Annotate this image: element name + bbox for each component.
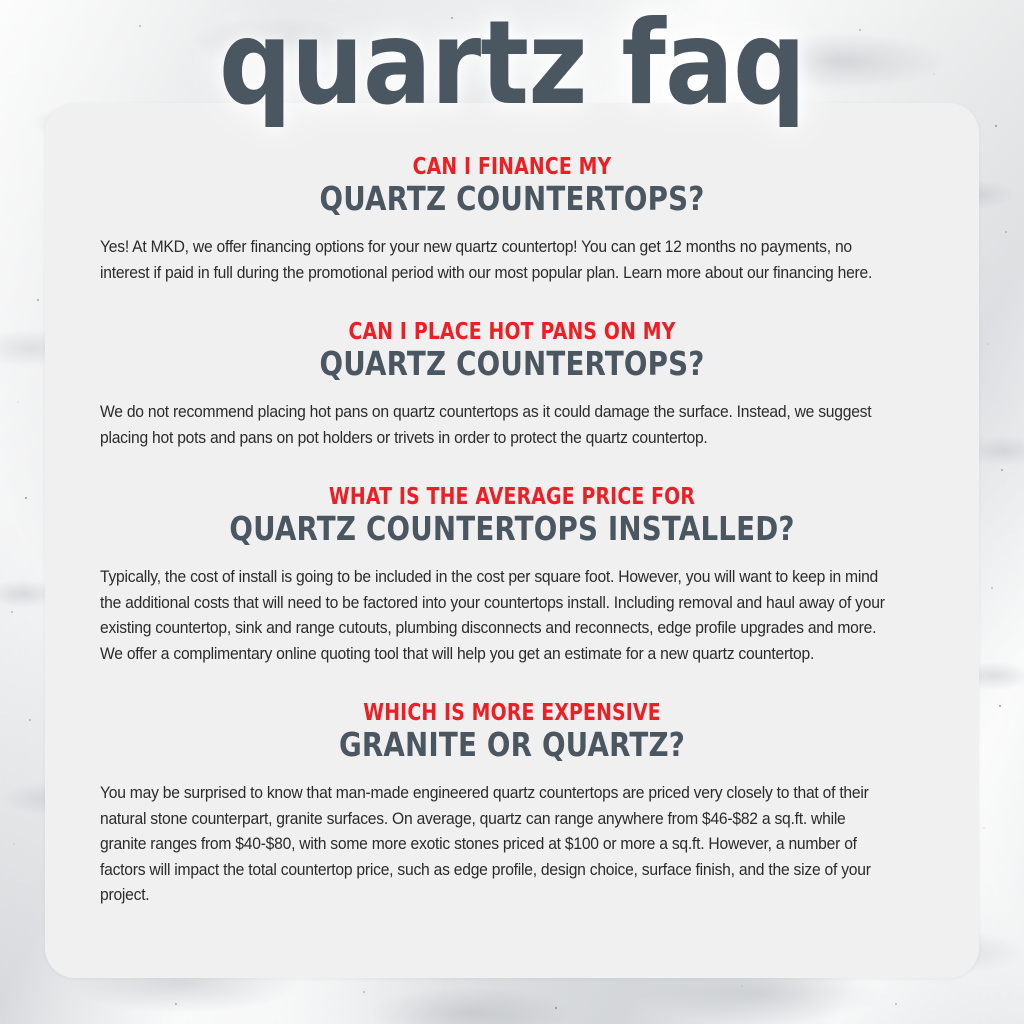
faq-item: WHAT IS THE AVERAGE PRICE FOR QUARTZ COU…	[100, 485, 924, 667]
faq-answer: Typically, the cost of install is going …	[100, 565, 887, 667]
faq-question-top: CAN I PLACE HOT PANS ON MY	[174, 320, 850, 344]
faq-question-main: GRANITE OR QUARTZ?	[166, 727, 858, 764]
faq-question-top: CAN I FINANCE MY	[174, 155, 850, 179]
infographic-page: quartz faq CAN I FINANCE MY QUARTZ COUNT…	[0, 0, 1024, 1024]
faq-list: CAN I FINANCE MY QUARTZ COUNTERTOPS? Yes…	[45, 103, 979, 978]
faq-answer: Yes! At MKD, we offer financing options …	[100, 235, 887, 286]
faq-answer: You may be surprised to know that man-ma…	[100, 781, 887, 909]
faq-item: WHICH IS MORE EXPENSIVE GRANITE OR QUART…	[100, 701, 924, 909]
faq-item: CAN I FINANCE MY QUARTZ COUNTERTOPS? Yes…	[100, 155, 924, 286]
faq-answer: We do not recommend placing hot pans on …	[100, 400, 887, 451]
faq-question-main: QUARTZ COUNTERTOPS INSTALLED?	[166, 511, 858, 548]
faq-question-top: WHICH IS MORE EXPENSIVE	[174, 701, 850, 725]
faq-question-top: WHAT IS THE AVERAGE PRICE FOR	[174, 485, 850, 509]
faq-question-main: QUARTZ COUNTERTOPS?	[166, 346, 858, 383]
faq-item: CAN I PLACE HOT PANS ON MY QUARTZ COUNTE…	[100, 320, 924, 451]
faq-question-main: QUARTZ COUNTERTOPS?	[166, 181, 858, 218]
